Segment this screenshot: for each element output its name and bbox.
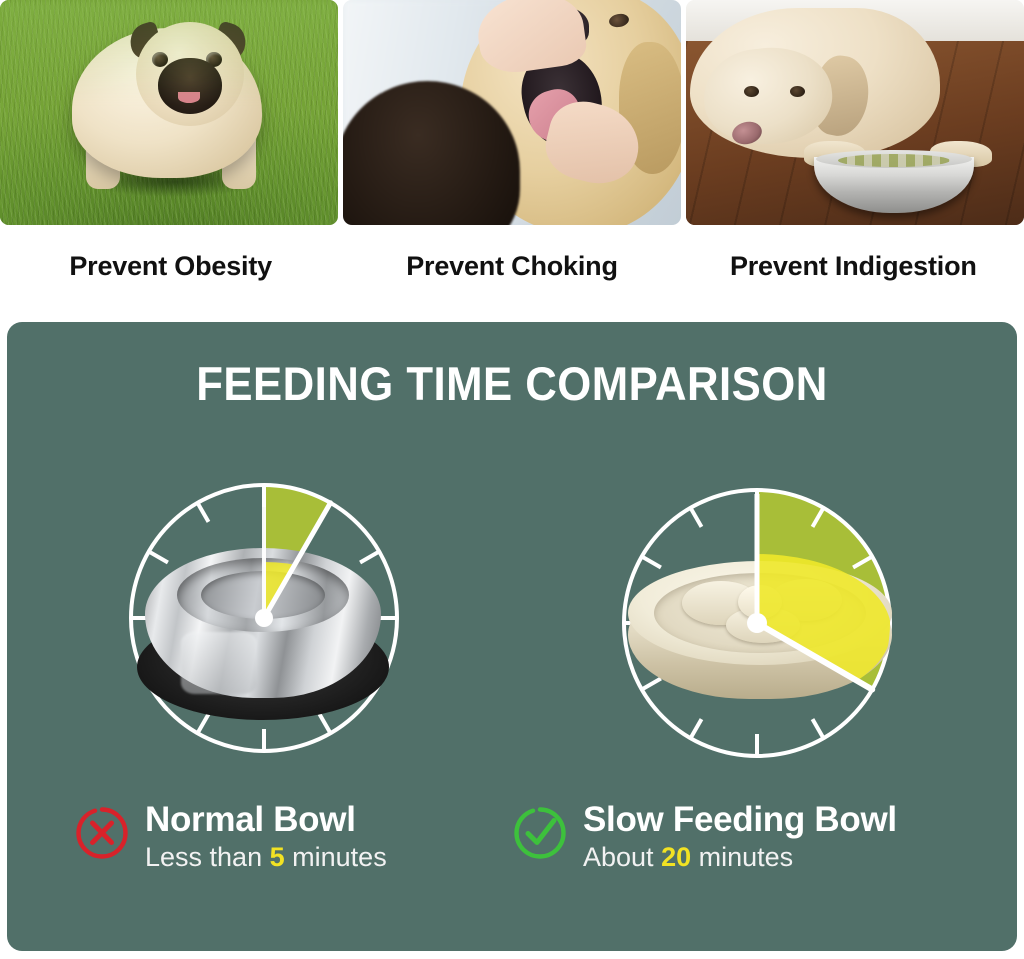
bowl-time: About 20 minutes	[583, 841, 897, 875]
caption-prevent-choking: Prevent Choking	[341, 232, 682, 300]
pug-eye-right	[206, 52, 222, 67]
clock-slow-feeding-bowl	[614, 480, 900, 766]
comparison-label-normal-bowl: Normal Bowl Less than 5 minutes	[75, 802, 387, 875]
labrador-eye-right	[790, 86, 805, 97]
label-text-group: Normal Bowl Less than 5 minutes	[145, 802, 387, 875]
caption-prevent-obesity: Prevent Obesity	[0, 232, 341, 300]
pug-muzzle	[158, 58, 222, 114]
cross-circle-icon	[75, 806, 129, 860]
bowl-food	[838, 154, 950, 167]
time-value: 20	[661, 842, 691, 872]
time-unit: minutes	[699, 842, 794, 872]
comparison-label-slow-feeding-bowl: Slow Feeding Bowl About 20 minutes	[513, 802, 897, 875]
pug-on-grass-image	[0, 0, 338, 225]
pug-eye-left	[152, 52, 168, 67]
benefit-photo-indigestion	[686, 0, 1024, 225]
benefit-photo-strip	[0, 0, 1024, 232]
time-prefix: About	[583, 842, 654, 872]
benefit-photo-obesity	[0, 0, 338, 225]
caption-prevent-indigestion: Prevent Indigestion	[683, 232, 1024, 300]
pug-ear-left	[126, 21, 164, 62]
pug-tongue	[178, 92, 200, 103]
bowl-name: Normal Bowl	[145, 802, 387, 839]
panel-title: FEEDING TIME COMPARISON	[36, 356, 988, 411]
label-text-group: Slow Feeding Bowl About 20 minutes	[583, 802, 897, 875]
bowl-name: Slow Feeding Bowl	[583, 802, 897, 839]
clock-normal-bowl	[121, 475, 407, 761]
time-unit: minutes	[292, 842, 387, 872]
bowl-time: Less than 5 minutes	[145, 841, 387, 875]
dog-choking-image	[343, 0, 681, 225]
time-value: 5	[270, 842, 285, 872]
pug-ear-right	[212, 21, 250, 62]
time-prefix: Less than	[145, 842, 262, 872]
labrador-eye-left	[744, 86, 759, 97]
benefit-caption-row: Prevent Obesity Prevent Choking Prevent …	[0, 232, 1024, 300]
benefit-photo-choking	[343, 0, 681, 225]
check-circle-icon	[513, 806, 567, 860]
labrador-with-bowl-image	[686, 0, 1024, 225]
pug-body	[72, 28, 262, 178]
